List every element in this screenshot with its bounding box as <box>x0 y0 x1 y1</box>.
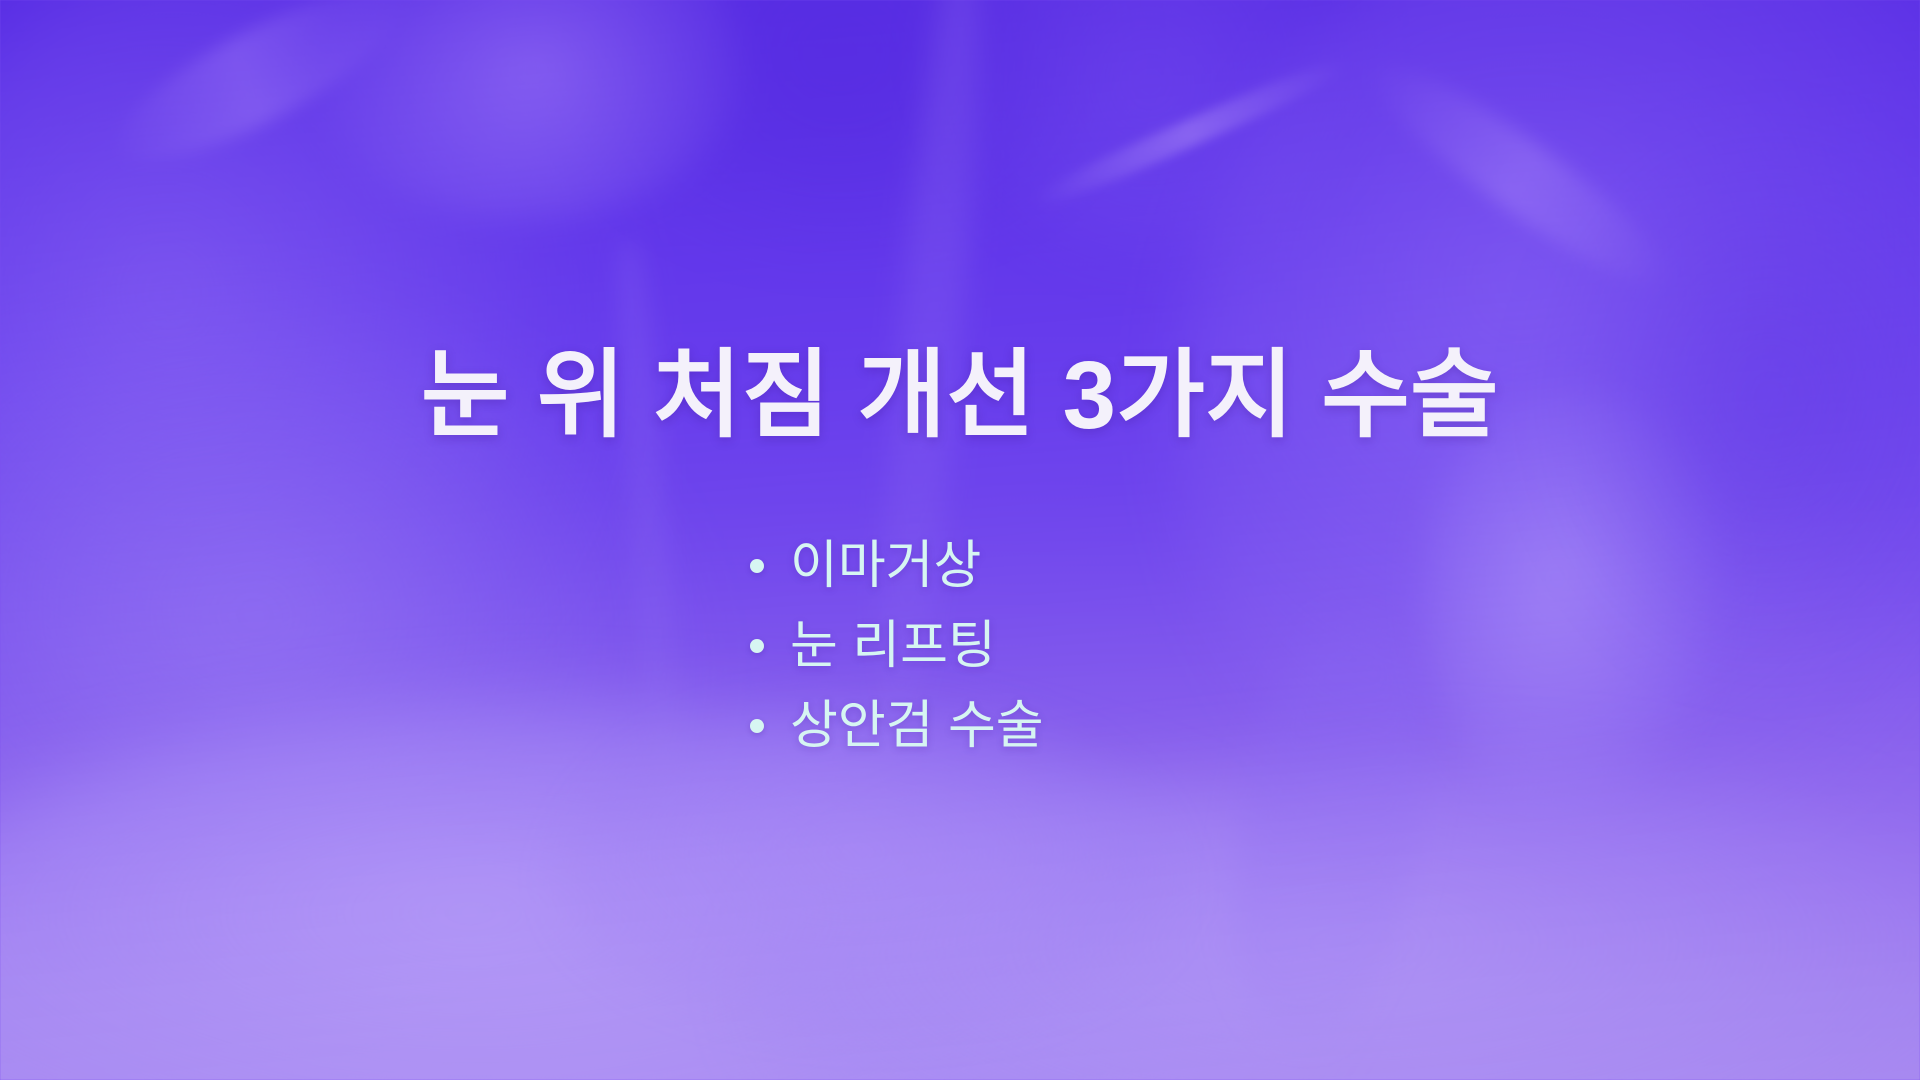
list-item: 이마거상 <box>750 538 1170 594</box>
slide-title: 눈 위 처짐 개선 3가지 수술 <box>0 348 1920 444</box>
bullet-dot-icon <box>750 639 764 653</box>
slide-content: 눈 위 처짐 개선 3가지 수술 이마거상 눈 리프팅 상안검 수술 <box>0 0 1920 1080</box>
bullet-dot-icon <box>750 559 764 573</box>
list-item: 눈 리프팅 <box>750 618 1170 674</box>
bullet-list: 이마거상 눈 리프팅 상안검 수술 <box>0 538 1920 754</box>
bullet-dot-icon <box>750 719 764 733</box>
bullet-item-label: 상안검 수술 <box>790 698 1044 754</box>
bullet-item-label: 눈 리프팅 <box>790 618 996 674</box>
bullet-item-label: 이마거상 <box>790 538 981 594</box>
list-item: 상안검 수술 <box>750 698 1170 754</box>
presentation-slide: 눈 위 처짐 개선 3가지 수술 이마거상 눈 리프팅 상안검 수술 <box>0 0 1920 1080</box>
